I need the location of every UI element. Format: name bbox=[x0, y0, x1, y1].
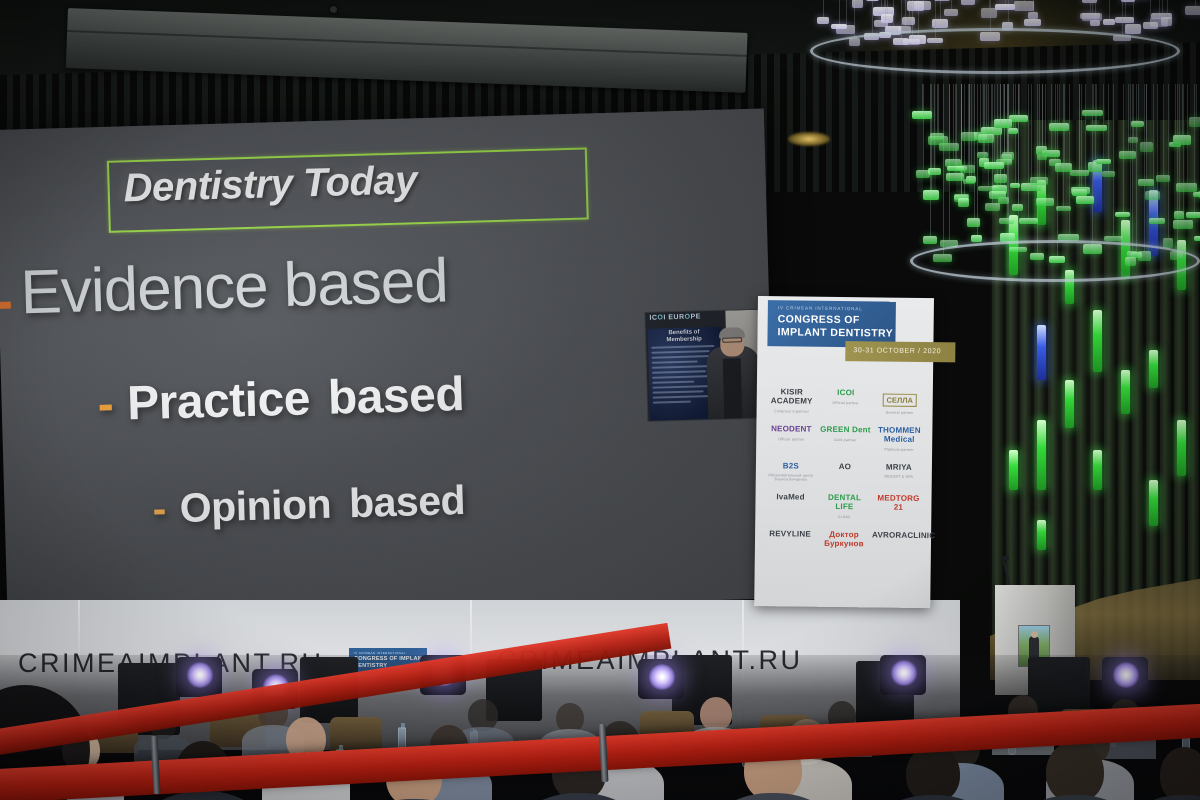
sponsor-logo-name: ICOI bbox=[820, 389, 872, 398]
sponsor-logo-row: NEODENTOfficial partnerGREEN DentGold pa… bbox=[764, 425, 926, 452]
attendee-head bbox=[1046, 741, 1104, 800]
sponsor-logo-name: B2S bbox=[765, 462, 817, 471]
sponsor-logo: MRIYARESORT & SPA bbox=[873, 463, 925, 479]
banner-date-block: 30-31 OCTOBER / 2020 bbox=[845, 341, 955, 362]
chandelier-upper bbox=[800, 0, 1200, 90]
sponsor-logo-role: Official partner bbox=[765, 437, 817, 442]
banner-title: CONGRESS OF IMPLANT DENTISTRY bbox=[777, 313, 897, 340]
sponsor-logo-row: IvaMedDENTAL LIFECLINICMEDTORG 21 bbox=[763, 493, 925, 520]
sponsor-logo: DENTAL LIFECLINIC bbox=[818, 494, 870, 519]
stage-light bbox=[1102, 657, 1148, 697]
sponsor-logo: THOMMEN MedicalPlatinum partner bbox=[873, 426, 925, 451]
stage-light bbox=[880, 655, 926, 695]
sponsor-logo-name: IvaMed bbox=[764, 493, 816, 502]
sponsor-logo-name: DENTAL LIFE bbox=[818, 494, 870, 512]
attendee-head bbox=[700, 697, 732, 731]
sponsor-logo: AVRORACLINIC bbox=[872, 531, 924, 540]
sponsor-logo-role: Official partner bbox=[820, 401, 872, 406]
chandelier-ring-lower bbox=[910, 240, 1200, 282]
sponsor-logo-row: REVYLINEДоктор БуркуновAVRORACLINIC bbox=[763, 530, 925, 550]
sponsor-logo-role: CLINIC bbox=[818, 515, 870, 520]
chandelier-lower bbox=[920, 90, 1200, 300]
sponsor-logo-role: Образовательный центр Бориса Бочарова bbox=[765, 473, 817, 482]
sponsor-logo: ICOIOfficial partner bbox=[820, 389, 872, 405]
sponsor-logo: NEODENTOfficial partner bbox=[765, 425, 817, 441]
chandelier-ring-upper bbox=[810, 28, 1180, 74]
sponsor-logo-role: Gold partner bbox=[819, 438, 871, 443]
sponsor-logo-name: NEODENT bbox=[765, 425, 817, 434]
sponsor-logo: REVYLINE bbox=[764, 530, 816, 539]
sponsor-logo-row: KISIR ACADEMYCongress organizerICOIOffic… bbox=[765, 388, 927, 415]
conference-hall-scene: Dentistry Today Evidence based -Practice… bbox=[0, 0, 1200, 800]
projection-screen: Dentistry Today Evidence based -Practice… bbox=[0, 109, 777, 620]
ceiling-fixture-icon bbox=[330, 6, 337, 13]
sponsor-logo-name: MRIYA bbox=[873, 463, 925, 472]
stage-light bbox=[176, 657, 222, 697]
sponsor-logo-name: Доктор Буркунов bbox=[818, 531, 870, 549]
sponsor-logo-name: KISIR ACADEMY bbox=[766, 388, 818, 406]
sponsor-logo-name: СЕЛЛА bbox=[882, 394, 917, 407]
sponsor-logo-name: AO bbox=[819, 462, 871, 471]
sponsor-logo-role: RESORT & SPA bbox=[873, 475, 925, 480]
sponsor-logo-role: Platinum partner bbox=[873, 447, 925, 452]
sponsor-logo: GREEN DentGold partner bbox=[819, 426, 871, 442]
sponsor-logo: Доктор Буркунов bbox=[818, 531, 870, 549]
banner-pretitle: IV CRIMEAN INTERNATIONAL bbox=[778, 305, 863, 311]
sponsor-logo-role: Congress organizer bbox=[766, 409, 818, 414]
sponsor-logo: СЕЛЛАGeneral partner bbox=[874, 389, 926, 415]
sponsor-logo-role: General partner bbox=[874, 410, 926, 415]
sponsor-logo: KISIR ACADEMYCongress organizer bbox=[766, 388, 818, 413]
sponsor-logo: AO bbox=[819, 462, 871, 471]
sponsor-logo-name: AVRORACLINIC bbox=[872, 531, 924, 540]
sponsor-logo-name: MEDTORG 21 bbox=[872, 495, 924, 513]
sponsor-logo: MEDTORG 21 bbox=[872, 495, 924, 513]
sponsor-logo-name: GREEN Dent bbox=[819, 426, 871, 435]
sponsor-logo: B2SОбразовательный центр Бориса Бочарова bbox=[765, 462, 817, 482]
attendee-shoulders bbox=[1126, 795, 1200, 800]
attendee-head bbox=[1160, 747, 1200, 800]
podium-monitor-figure-head bbox=[1031, 631, 1038, 638]
screen-vignette bbox=[0, 109, 777, 620]
banner-date: 30-31 OCTOBER / 2020 bbox=[853, 347, 941, 355]
sponsor-logo: IvaMed bbox=[764, 493, 816, 502]
sponsor-logo-grid: KISIR ACADEMYCongress organizerICOIOffic… bbox=[763, 388, 927, 562]
stage-light bbox=[638, 659, 684, 699]
sponsor-rollup-banner: IV CRIMEAN INTERNATIONAL CONGRESS OF IMP… bbox=[754, 296, 934, 608]
sponsor-logo-name: REVYLINE bbox=[764, 530, 816, 539]
ceiling-spotlight-icon bbox=[788, 132, 830, 146]
sponsor-logo-row: B2SОбразовательный центр Бориса Бочарова… bbox=[764, 462, 926, 484]
sponsor-logo-name: THOMMEN Medical bbox=[873, 426, 925, 444]
